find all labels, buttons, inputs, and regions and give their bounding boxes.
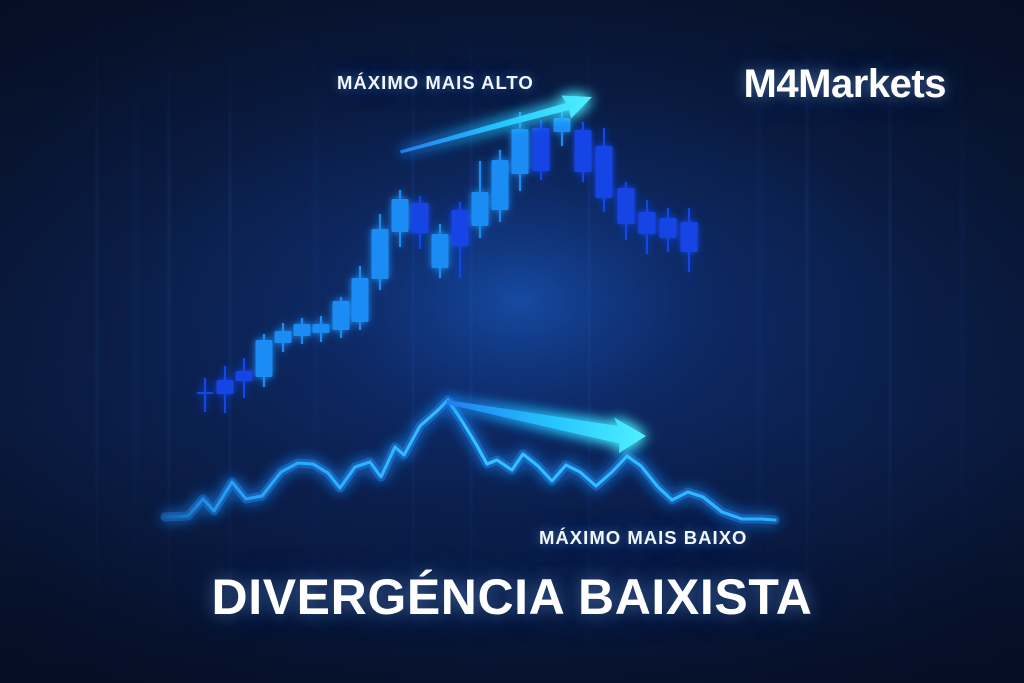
candle-body xyxy=(275,331,292,343)
candle-body xyxy=(217,380,234,394)
candle-body xyxy=(294,324,311,336)
candle-body xyxy=(256,340,273,377)
candle-body xyxy=(533,128,550,171)
candle-body xyxy=(618,188,635,224)
candle-body xyxy=(681,222,698,252)
candle-body xyxy=(512,129,529,174)
infographic-canvas: MÁXIMO MAIS ALTO MÁXIMO MAIS BAIXO M4Mar… xyxy=(0,0,1024,683)
candle-body xyxy=(639,212,656,234)
candle-wick xyxy=(204,378,206,412)
candle-body xyxy=(313,324,330,333)
candle-body xyxy=(554,118,571,132)
candle-body xyxy=(197,392,214,394)
page-title: DIVERGÉNCIA BAIXISTA xyxy=(0,568,1024,626)
annotation-lower-high: MÁXIMO MAIS BAIXO xyxy=(539,527,747,549)
candle-body xyxy=(660,218,677,238)
candle-body xyxy=(596,146,613,198)
brand-logo: M4Markets xyxy=(744,62,946,107)
candle-body xyxy=(412,203,429,233)
candle-body xyxy=(236,371,253,381)
annotation-higher-high: MÁXIMO MAIS ALTO xyxy=(337,72,534,94)
candle-body xyxy=(352,278,369,322)
candle-body xyxy=(452,210,469,246)
candle-body xyxy=(432,234,449,268)
candle-body xyxy=(372,229,389,279)
candle-body xyxy=(575,130,592,172)
candle-body xyxy=(333,301,350,330)
candle-body xyxy=(492,160,509,210)
candle-body xyxy=(392,199,409,232)
candle-body xyxy=(472,192,489,226)
